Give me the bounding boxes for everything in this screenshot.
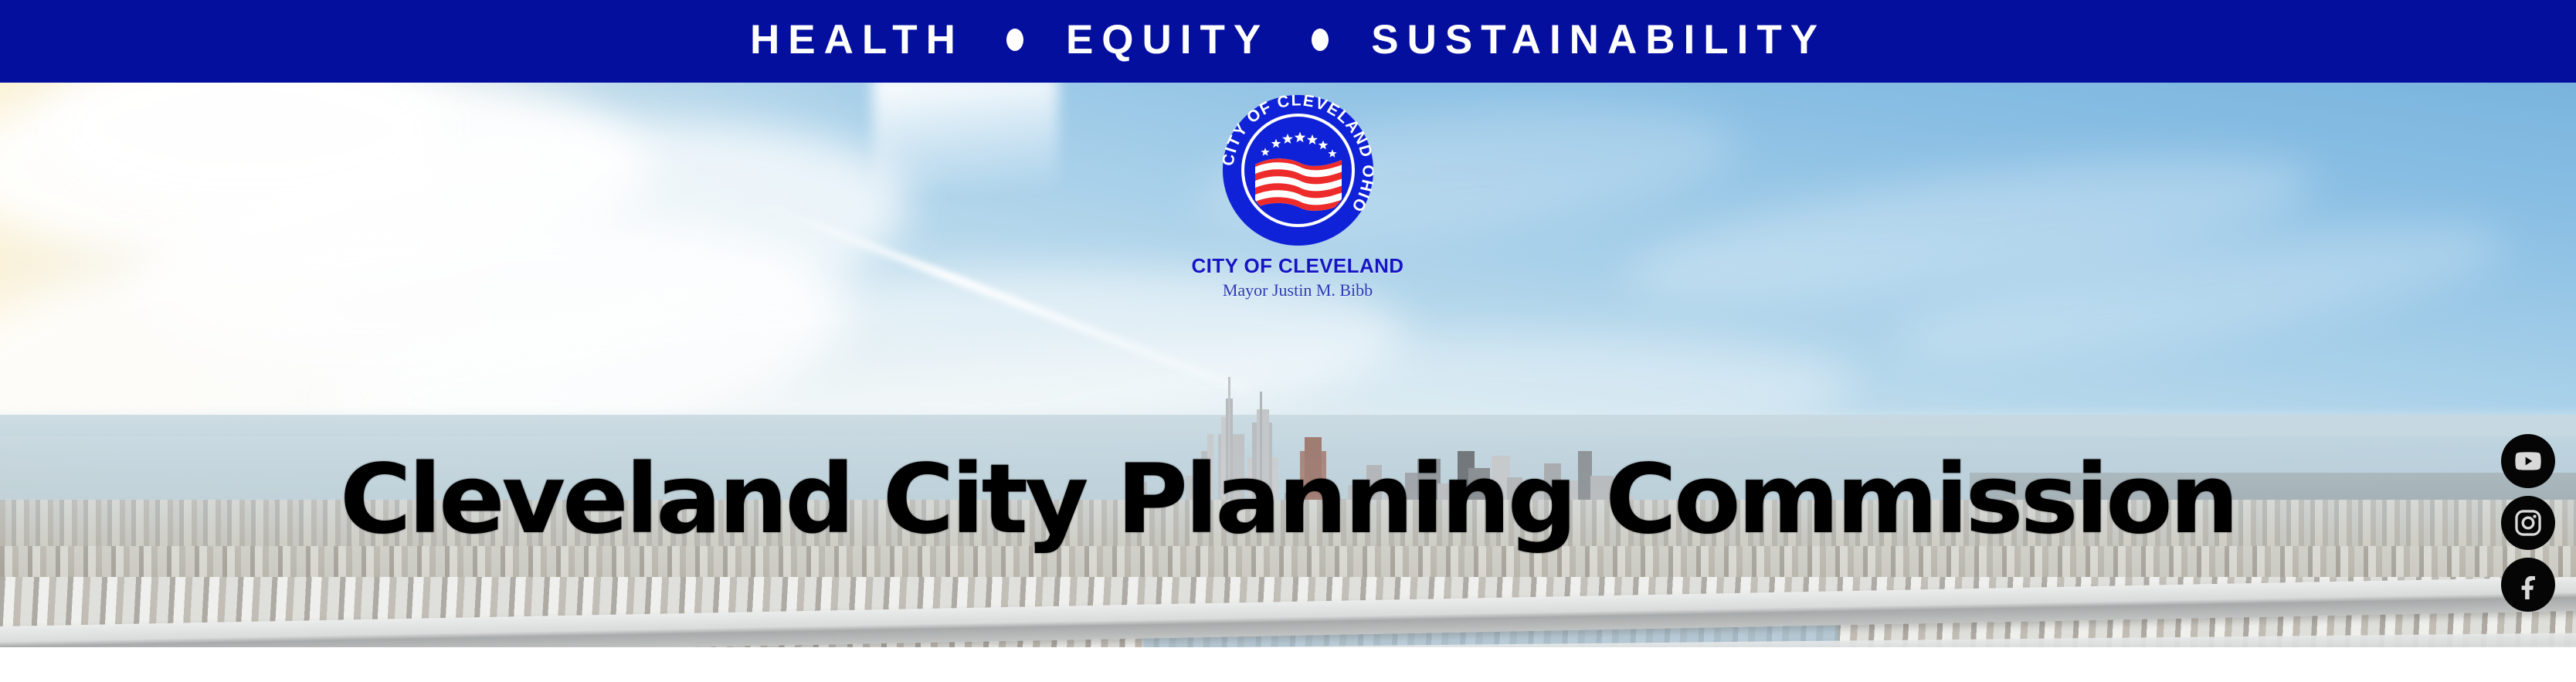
tagline-separator-dot-1 <box>1006 29 1023 51</box>
city-of-cleveland-seal-icon: CITY OF CLEVELAND OHIO <box>1223 95 1373 246</box>
tagline-banner-inner: HEALTH EQUITY SUSTAINABILITY <box>750 16 1826 63</box>
tagline-banner: HEALTH EQUITY SUSTAINABILITY <box>0 0 2576 83</box>
distant-horizon <box>1970 473 2576 504</box>
tagline-separator-dot-2 <box>1312 29 1329 51</box>
facebook-icon[interactable] <box>2501 558 2555 612</box>
tagline-word-health: HEALTH <box>750 16 964 63</box>
tagline-word-sustainability: SUSTAINABILITY <box>1371 16 1826 63</box>
logo-title: CITY OF CLEVELAND <box>1191 254 1403 278</box>
city-logo-block[interactable]: CITY OF CLEVELAND OHIO <box>1159 95 1437 300</box>
page-root: HEALTH EQUITY SUSTAINABILITY <box>0 0 2576 682</box>
tagline-word-equity: EQUITY <box>1066 16 1269 63</box>
seal-face <box>1246 118 1350 222</box>
contrail <box>873 83 1058 191</box>
logo-subtitle: Mayor Justin M. Bibb <box>1223 280 1373 300</box>
instagram-icon[interactable] <box>2501 496 2555 550</box>
youtube-icon[interactable] <box>2501 434 2555 488</box>
social-links <box>2500 434 2556 612</box>
